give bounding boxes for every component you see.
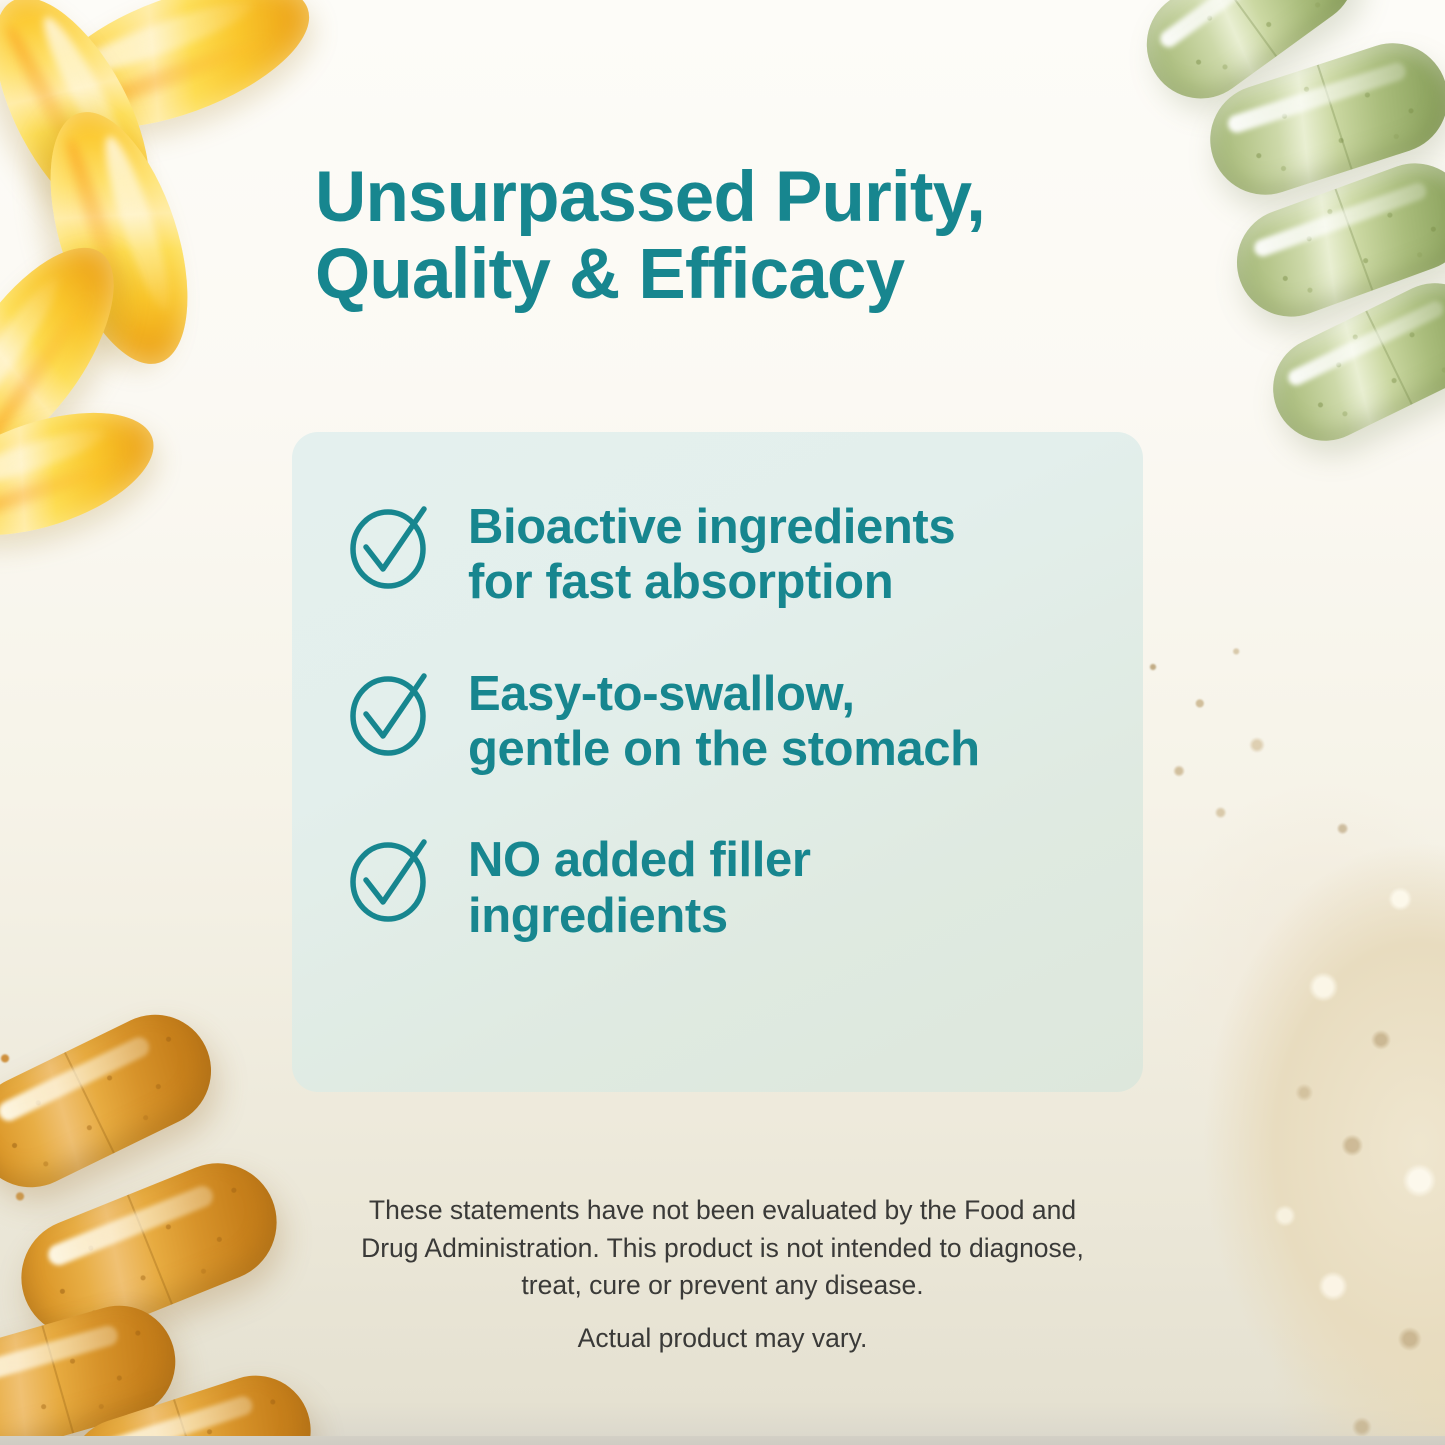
feature-item: Bioactive ingredients for fast absorptio…	[340, 490, 1110, 611]
feature-card: Bioactive ingredients for fast absorptio…	[292, 432, 1143, 1092]
feature-item: NO added filler ingredients	[340, 823, 1110, 944]
feature-list: Bioactive ingredients for fast absorptio…	[340, 490, 1110, 944]
fda-disclaimer: These statements have not been evaluated…	[320, 1192, 1125, 1305]
circle-check-icon	[340, 492, 440, 592]
circle-check-icon	[340, 659, 440, 759]
golden-softgel-capsules-decor	[0, 0, 290, 610]
circle-check-icon	[340, 825, 440, 925]
feature-label: Easy-to-swallow, gentle on the stomach	[468, 657, 980, 778]
page-title: Unsurpassed Purity, Quality & Efficacy	[315, 160, 1175, 313]
feature-label: Bioactive ingredients for fast absorptio…	[468, 490, 955, 611]
product-variation-note: Actual product may vary.	[320, 1320, 1125, 1357]
promo-graphic: Unsurpassed Purity, Quality & Efficacy B…	[0, 0, 1445, 1445]
feature-item: Easy-to-swallow, gentle on the stomach	[340, 657, 1110, 778]
bottom-edge-strip	[0, 1436, 1445, 1445]
feature-label: NO added filler ingredients	[468, 823, 811, 944]
